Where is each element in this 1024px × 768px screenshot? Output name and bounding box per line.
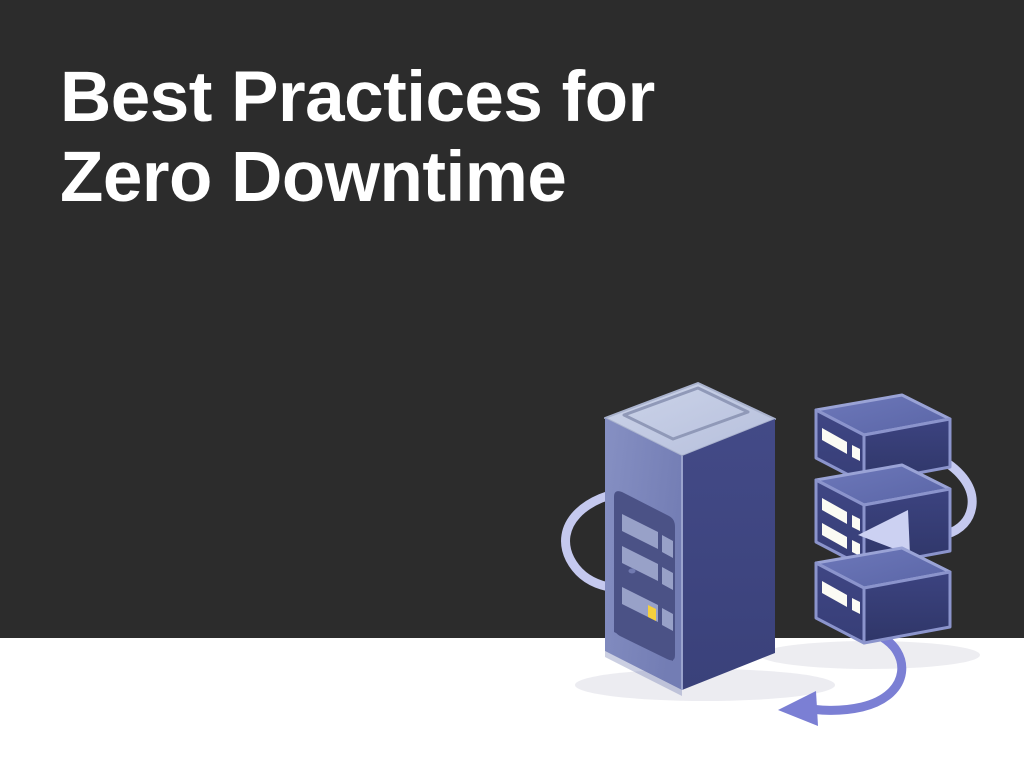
title-line-2: Zero Downtime	[60, 138, 820, 218]
server-tower	[605, 383, 775, 696]
title-line-1: Best Practices for	[60, 58, 820, 138]
slide-canvas: Best Practices for Zero Downtime	[0, 0, 1024, 768]
page-title: Best Practices for Zero Downtime	[60, 58, 820, 218]
rack-unit-bottom	[816, 548, 950, 643]
server-infrastructure-illustration	[540, 355, 1024, 768]
tower-indicator-dot	[629, 569, 636, 574]
